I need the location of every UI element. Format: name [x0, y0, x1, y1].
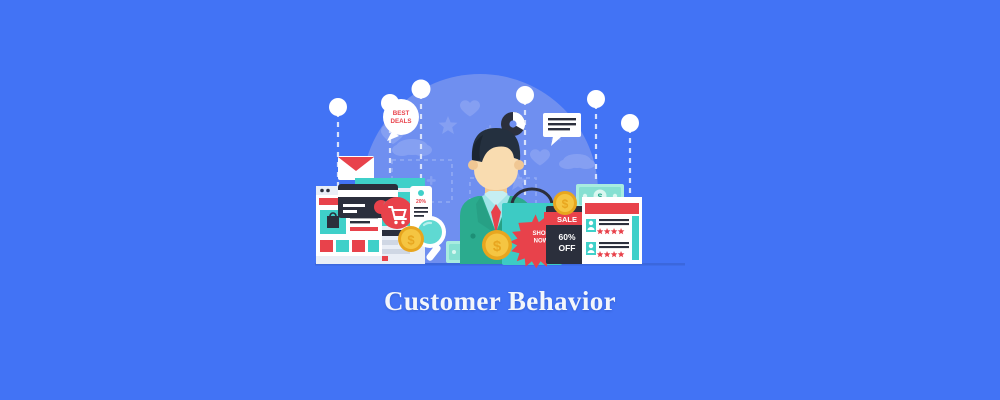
jacket-button	[470, 233, 475, 238]
svg-text:$: $	[493, 238, 502, 255]
svg-text:$: $	[407, 233, 415, 248]
color-swatch	[368, 240, 379, 252]
ear	[468, 160, 478, 170]
svg-text:$: $	[562, 197, 569, 211]
pin-head-icon	[621, 114, 639, 132]
gold-coin-dollar: $	[482, 230, 512, 260]
banner-root: BEST DEALS	[0, 0, 1000, 400]
color-swatch	[352, 240, 365, 252]
pin-head-icon	[587, 90, 605, 108]
gold-coin-dollar: $	[398, 226, 424, 252]
page-title: Customer Behavior	[0, 286, 1000, 317]
browser-dot-icon	[326, 189, 330, 193]
email-envelope-icon	[338, 156, 374, 180]
ear	[514, 160, 524, 170]
review-rating-card	[582, 197, 642, 264]
pin-head-icon	[516, 86, 534, 104]
price-tag-text: 20%	[416, 199, 427, 205]
sale-discount-line1: 60%	[558, 232, 575, 242]
illustration-canvas: BEST DEALS	[0, 0, 1000, 400]
browser-dot-icon	[320, 189, 324, 193]
pin-head-icon	[329, 98, 347, 116]
color-swatch	[336, 240, 349, 252]
best-deals-line2: DEALS	[391, 118, 412, 125]
sale-discount-line2: OFF	[559, 243, 576, 253]
sale-header-text: SALE	[557, 215, 577, 224]
color-swatch	[320, 240, 333, 252]
gold-coin-dollar: $	[553, 191, 577, 215]
scrollbar[interactable]	[632, 216, 639, 260]
tag-hole-icon	[418, 190, 424, 196]
pin-head-icon	[412, 80, 431, 99]
best-deals-line1: BEST	[393, 110, 410, 117]
shopping-cart-icon	[381, 197, 413, 229]
